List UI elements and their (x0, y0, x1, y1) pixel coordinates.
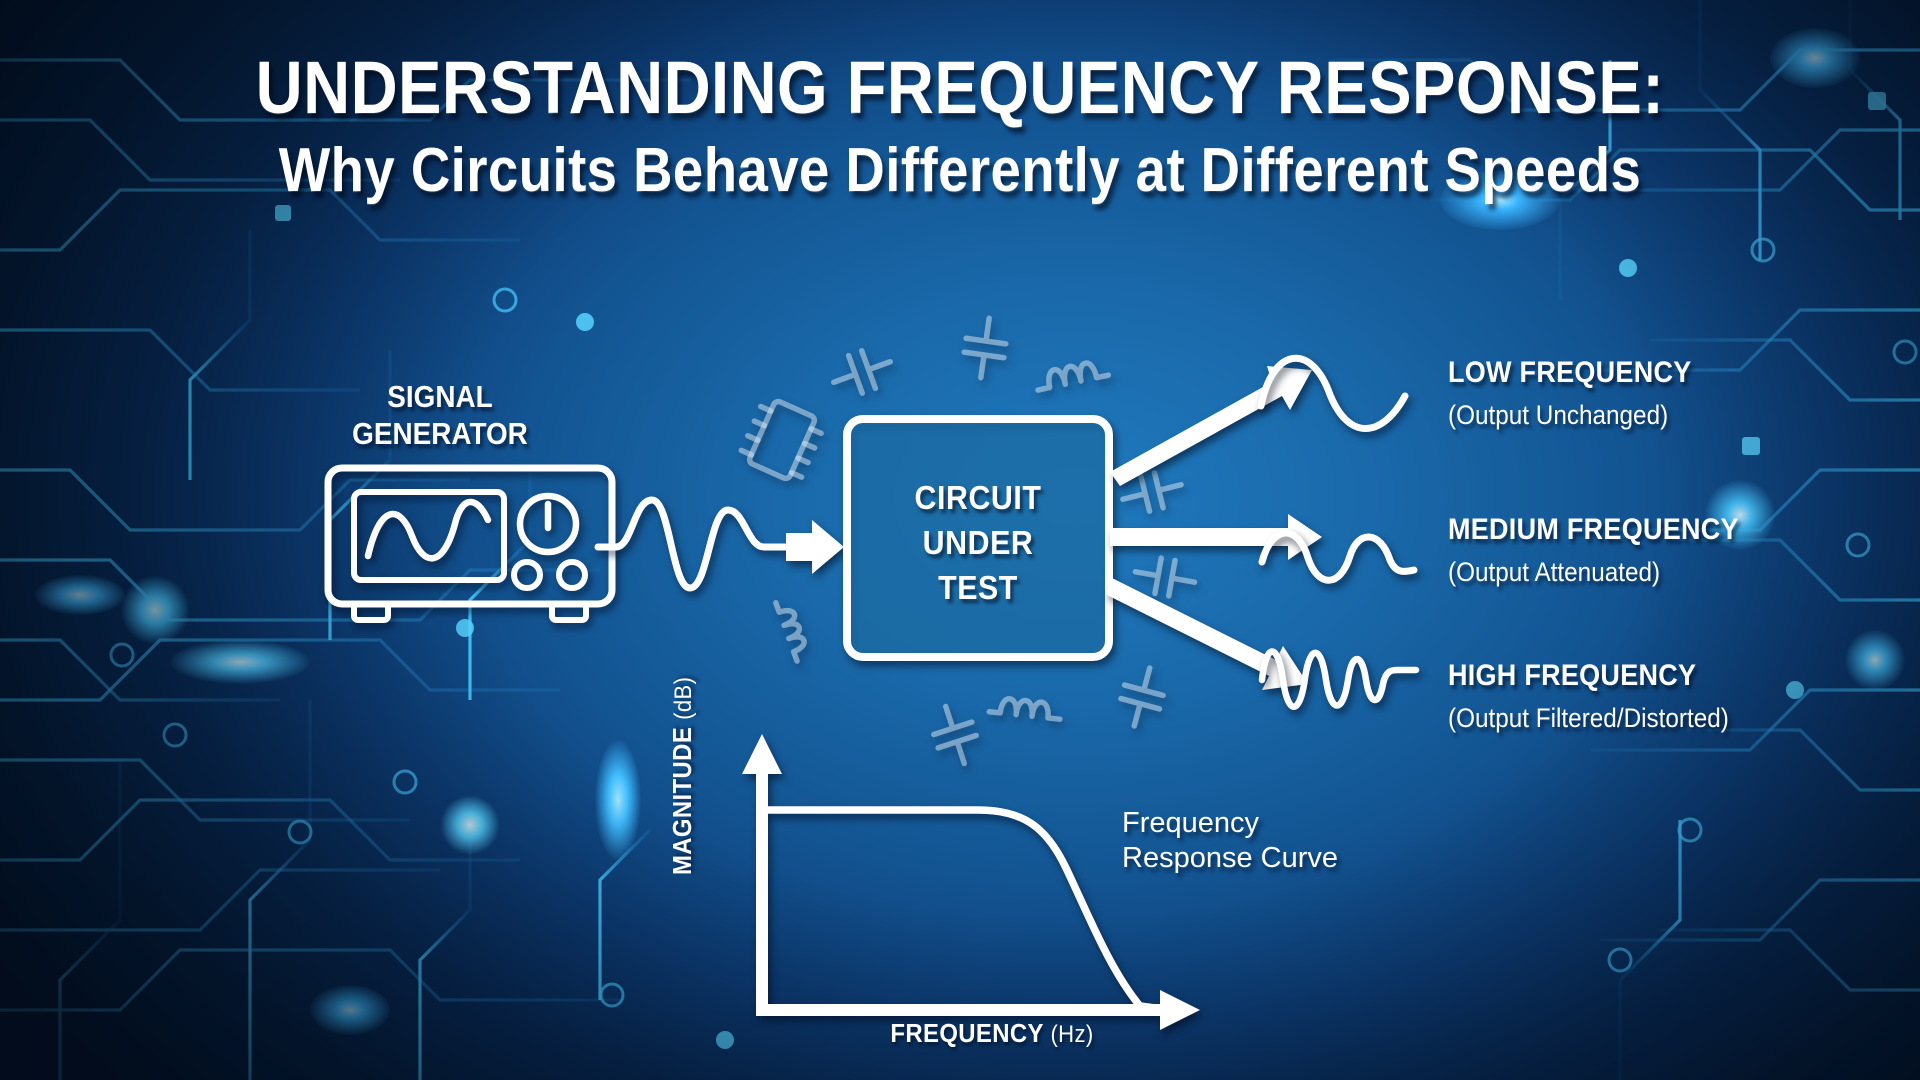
graph-ylabel-main: MAGNITUDE (667, 727, 697, 875)
output-heading-medium: MEDIUM FREQUENCY (1448, 512, 1739, 548)
output-sub-medium: (Output Attenuated) (1448, 555, 1660, 589)
frequency-response-curve (762, 810, 1170, 1010)
inductor-coil-symbol (1035, 359, 1109, 390)
output-sub-high: (Output Filtered/Distorted) (1448, 701, 1729, 735)
infographic-canvas: UNDERSTANDING FREQUENCY RESPONSE: Why Ci… (0, 0, 1920, 1080)
graph-y-axis (742, 734, 782, 1010)
sine-wave-high-frequency-damped-icon (1262, 652, 1416, 707)
output-heading-high: HIGH FREQUENCY (1448, 658, 1696, 694)
waveform-high-frequency (1258, 640, 1418, 720)
graph-xlabel: FREQUENCY (Hz) (872, 1018, 1111, 1049)
capacitor-symbol (827, 343, 897, 401)
inductor-coil-symbol (989, 697, 1061, 719)
graph-ylabel: MAGNITUDE (dB) (667, 677, 698, 875)
curve-annotation-line2: Response Curve (1122, 841, 1338, 876)
output-heading-low: LOW FREQUENCY (1448, 355, 1692, 391)
ic-chip-symbol (738, 396, 826, 485)
graph-xlabel-main: FREQUENCY (890, 1018, 1043, 1048)
output-sub-low: (Output Unchanged) (1448, 398, 1668, 432)
waveform-medium-frequency (1258, 520, 1418, 590)
sine-wave-low-frequency-icon (1261, 358, 1405, 428)
inductor-coil-symbol (776, 598, 810, 661)
capacitor-symbol (961, 316, 1009, 381)
graph-ylabel-unit: (dB) (670, 677, 697, 720)
curve-annotation-line1: Frequency (1122, 806, 1338, 841)
waveform-low-frequency (1255, 340, 1415, 450)
sine-wave-medium-frequency-icon (1262, 533, 1414, 580)
graph-xlabel-unit: (Hz) (1050, 1021, 1093, 1048)
curve-annotation: Frequency Response Curve (1122, 806, 1338, 876)
